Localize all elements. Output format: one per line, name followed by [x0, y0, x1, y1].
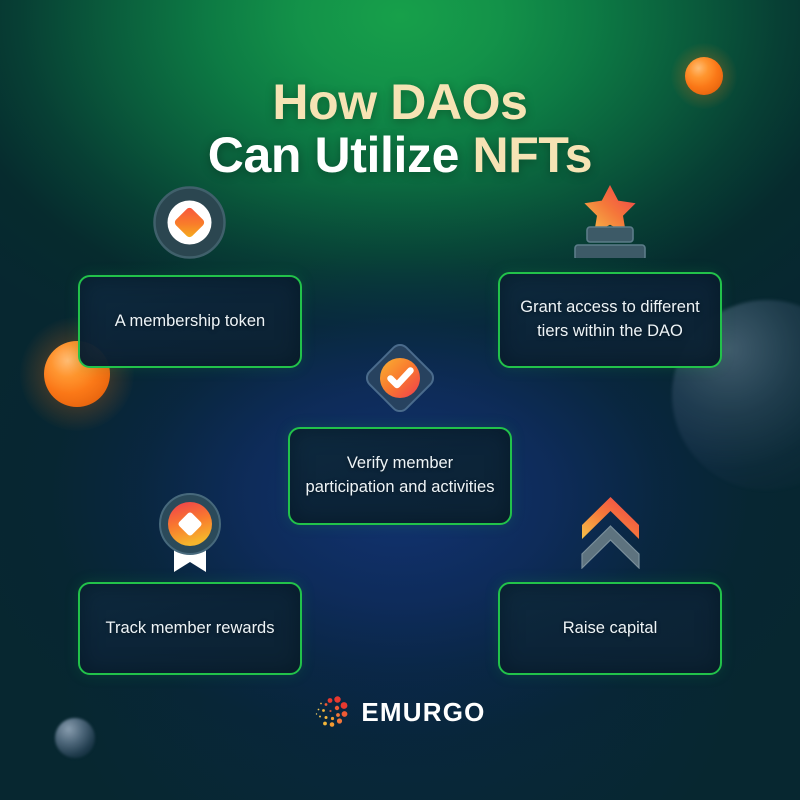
page-title: How DAOs Can Utilize NFTs: [0, 76, 800, 182]
emurgo-dot-burst-icon: [314, 694, 350, 730]
card-membership-token[interactable]: A membership token: [78, 275, 302, 368]
card-track-member-rewards-text: Track member rewards: [93, 617, 286, 641]
card-raise-capital-text: Raise capital: [551, 617, 669, 641]
card-raise-capital[interactable]: Raise capital: [498, 582, 722, 675]
title-line-2-cream: NFTs: [473, 127, 593, 183]
card-grant-access-tiers-text: Grant access to different tiers within t…: [500, 296, 720, 344]
card-verify-participation[interactable]: Verify member participation and activiti…: [288, 427, 512, 525]
tier-podium-star-icon: [568, 183, 652, 258]
title-line-1: How DAOs: [0, 76, 800, 129]
card-verify-participation-text: Verify member participation and activiti…: [290, 452, 510, 500]
verified-check-diamond-icon: [362, 340, 438, 416]
title-line-2: Can Utilize NFTs: [0, 129, 800, 182]
infographic-canvas: How DAOs Can Utilize NFTs: [0, 0, 800, 800]
card-membership-token-text: A membership token: [103, 310, 277, 334]
card-track-member-rewards[interactable]: Track member rewards: [78, 582, 302, 675]
award-ribbon-icon: [158, 492, 222, 574]
title-line-2-white: Can Utilize: [208, 127, 459, 183]
emurgo-logo[interactable]: EMURGO: [0, 694, 800, 730]
emurgo-wordmark: EMURGO: [361, 697, 485, 728]
card-grant-access-tiers[interactable]: Grant access to different tiers within t…: [498, 272, 722, 368]
membership-token-badge-icon: [153, 186, 226, 259]
double-chevron-up-icon: [573, 496, 648, 569]
